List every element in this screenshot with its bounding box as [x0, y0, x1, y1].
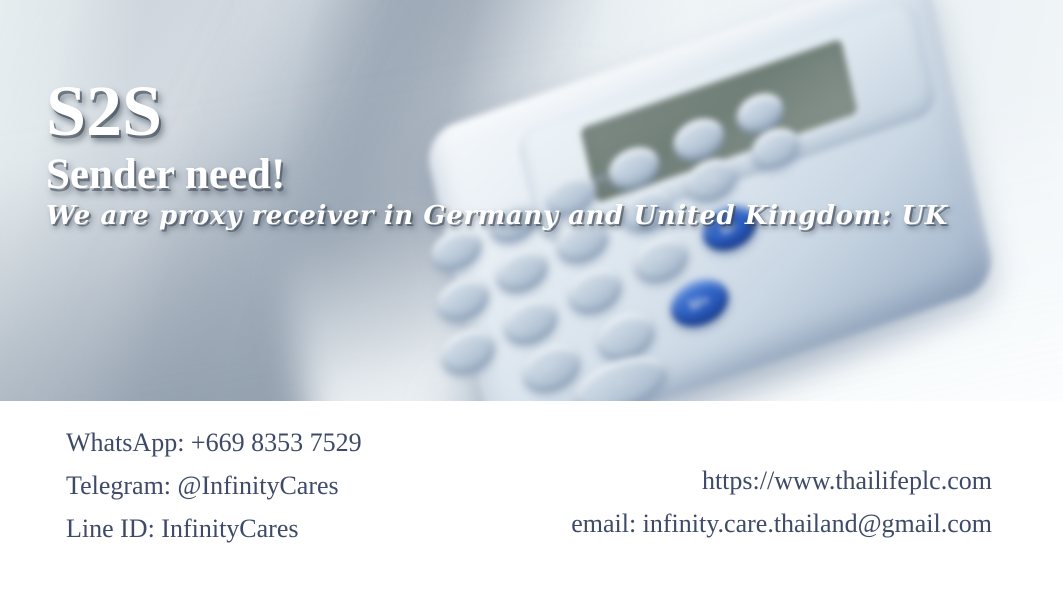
contact-email[interactable]: email: infinity.care.thailand@gmail.com: [571, 502, 992, 545]
key-row3-col3: [564, 261, 626, 320]
headline-block: S2S Sender need! We are proxy receiver i…: [46, 74, 886, 232]
key-row2-col2: [492, 242, 552, 299]
promo-banner: % ÷ × M- +/-: [0, 0, 1063, 600]
key-row3-col1: [437, 322, 499, 381]
key-multiply: ×: [630, 230, 692, 289]
key-memory-plus: M+: [666, 271, 733, 334]
contact-telegram[interactable]: Telegram: @InfinityCares: [66, 464, 362, 507]
key-equals-label: =: [454, 393, 551, 401]
page-tagline: We are proxy receiver in Germany and Uni…: [46, 200, 886, 232]
page-title: S2S: [46, 74, 886, 148]
contact-website-url[interactable]: https://www.thailifeplc.com: [571, 459, 992, 502]
key-row3-col2: [499, 292, 561, 351]
contact-left-column: WhatsApp: +669 8353 7529 Telegram: @Infi…: [66, 421, 362, 550]
hero-photo: % ÷ × M- +/-: [0, 0, 1063, 401]
key-memory-plus-label: M+: [666, 271, 733, 334]
contact-right-column: https://www.thailifeplc.com email: infin…: [571, 459, 992, 545]
contact-line-id[interactable]: Line ID: InfinityCares: [66, 507, 362, 550]
contact-whatsapp[interactable]: WhatsApp: +669 8353 7529: [66, 421, 362, 464]
key-multiply-label: ×: [630, 230, 692, 289]
key-equals: =: [454, 393, 551, 401]
key-row2-col1: [433, 271, 493, 328]
page-subtitle: Sender need!: [46, 152, 886, 198]
contact-footer: WhatsApp: +669 8353 7529 Telegram: @Infi…: [0, 401, 1063, 600]
